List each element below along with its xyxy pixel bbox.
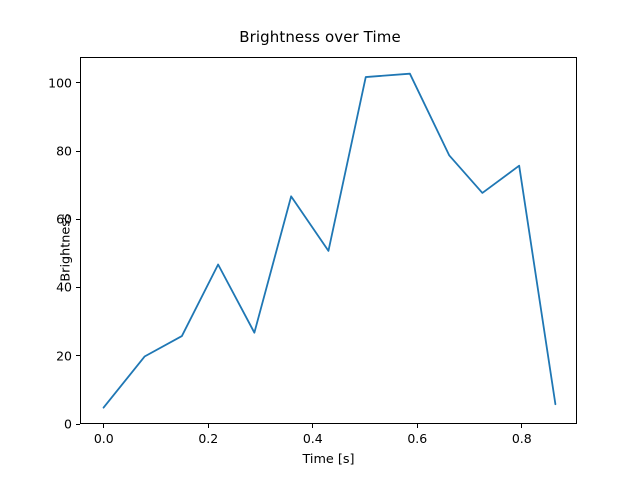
chart-title: Brightness over Time xyxy=(0,28,640,46)
ytick-mark-40 xyxy=(76,287,80,288)
x-axis-label: Time [s] xyxy=(80,452,577,467)
ytick-label-100: 100 xyxy=(30,75,72,90)
ytick-mark-0 xyxy=(76,424,80,425)
plot-axes-area xyxy=(80,57,577,424)
xtick-label-0.0: 0.0 xyxy=(94,431,114,446)
line-plot-svg xyxy=(81,58,578,425)
ytick-mark-20 xyxy=(76,355,80,356)
figure-canvas: Brightness over Time 0 20 40 60 80 100 0… xyxy=(0,0,640,480)
xtick-label-0.8: 0.8 xyxy=(512,431,532,446)
xtick-label-0.6: 0.6 xyxy=(407,431,427,446)
xtick-mark-0.2 xyxy=(208,424,209,428)
ytick-mark-60 xyxy=(76,219,80,220)
ytick-label-20: 20 xyxy=(30,348,72,363)
ytick-mark-80 xyxy=(76,151,80,152)
brightness-line-series xyxy=(104,74,556,408)
y-axis-label: Brightness xyxy=(59,178,74,318)
xtick-mark-0.8 xyxy=(521,424,522,428)
xtick-mark-0.4 xyxy=(312,424,313,428)
ytick-label-80: 80 xyxy=(30,143,72,158)
xtick-mark-0.0 xyxy=(103,424,104,428)
xtick-label-0.4: 0.4 xyxy=(303,431,323,446)
xtick-label-0.2: 0.2 xyxy=(198,431,218,446)
ytick-label-0: 0 xyxy=(30,417,72,432)
xtick-mark-0.6 xyxy=(417,424,418,428)
ytick-mark-100 xyxy=(76,82,80,83)
